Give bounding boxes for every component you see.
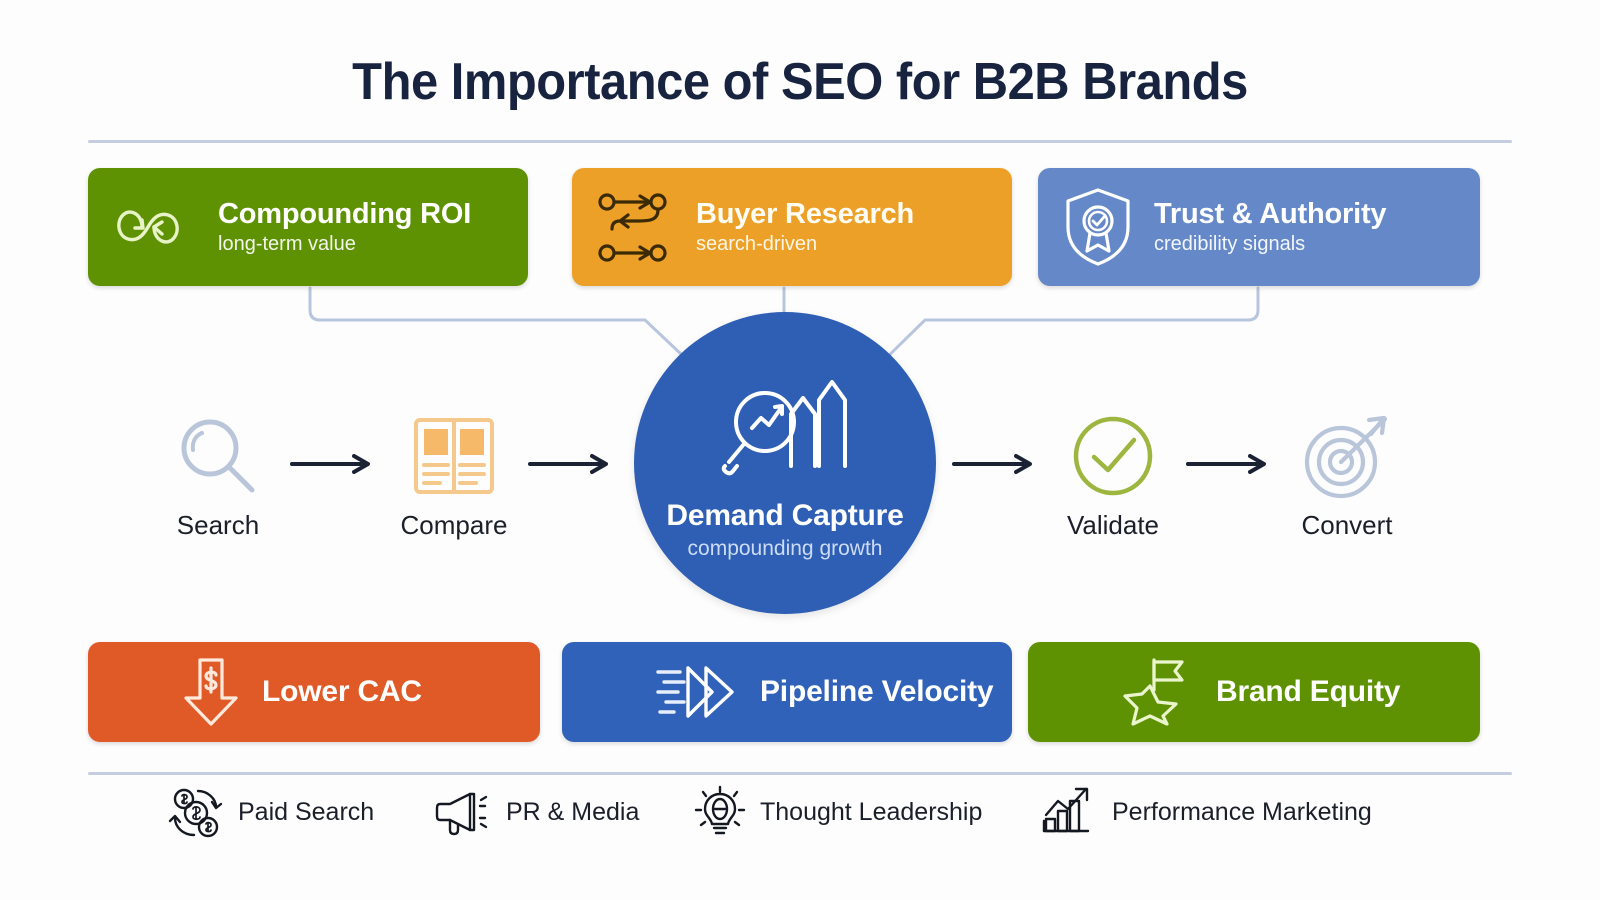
card-title: Trust & Authority xyxy=(1154,199,1386,229)
magnifier-growth-arrows-icon xyxy=(719,370,851,491)
card-buyer-research[interactable]: Buyer Research search-driven xyxy=(572,168,1012,286)
center-subtitle: compounding growth xyxy=(688,537,883,561)
card-subtitle: credibility signals xyxy=(1154,234,1386,255)
coins-cycle-icon xyxy=(168,785,224,839)
footer-item-thought-leadership[interactable]: Thought Leadership xyxy=(694,786,982,838)
flow-arrow-1 xyxy=(290,452,380,476)
flow-step-validate[interactable]: Validate xyxy=(1028,408,1198,541)
growth-bar-chart-icon xyxy=(1040,785,1098,839)
footer-item-performance-marketing[interactable]: Performance Marketing xyxy=(1040,786,1372,838)
shield-badge-icon xyxy=(1062,185,1134,269)
card-trust-authority[interactable]: Trust & Authority credibility signals xyxy=(1038,168,1480,286)
card-compounding-roi[interactable]: Compounding ROI long-term value xyxy=(88,168,528,286)
card-title: Compounding ROI xyxy=(218,199,471,229)
footer-item-pr-media[interactable]: PR & Media xyxy=(434,786,639,838)
card-text-block: Pipeline Velocity xyxy=(760,676,993,708)
branching-flow-nodes-icon xyxy=(596,189,676,265)
center-node-demand-capture[interactable]: Demand Capture compounding growth xyxy=(634,312,936,614)
footer-item-label: Performance Marketing xyxy=(1112,798,1372,827)
card-text-block: Compounding ROI long-term value xyxy=(218,199,471,255)
infinity-loop-icon xyxy=(112,196,198,258)
fast-forward-speed-icon xyxy=(654,660,740,724)
flow-step-convert[interactable]: Convert xyxy=(1262,408,1432,541)
card-brand-equity[interactable]: Brand Equity xyxy=(1028,642,1480,742)
magnifier-icon xyxy=(133,408,303,504)
megaphone-icon xyxy=(434,786,492,838)
flow-step-label: Compare xyxy=(369,510,539,541)
card-title: Lower CAC xyxy=(262,676,422,708)
card-text-block: Lower CAC xyxy=(262,676,422,708)
flow-arrow-2 xyxy=(528,452,618,476)
compare-documents-icon xyxy=(369,408,539,504)
card-text-block: Brand Equity xyxy=(1216,676,1400,708)
flow-step-label: Convert xyxy=(1262,510,1432,541)
star-flag-icon xyxy=(1120,656,1196,728)
divider-bottom xyxy=(88,772,1512,775)
footer-item-paid-search[interactable]: Paid Search xyxy=(168,786,374,838)
card-title: Pipeline Velocity xyxy=(760,676,993,708)
footer-item-label: Thought Leadership xyxy=(760,798,982,827)
card-lower-cac[interactable]: Lower CAC xyxy=(88,642,540,742)
card-pipeline-velocity[interactable]: Pipeline Velocity xyxy=(562,642,1012,742)
flow-step-search[interactable]: Search xyxy=(133,408,303,541)
target-arrow-icon xyxy=(1262,408,1432,504)
down-arrow-dollar-icon xyxy=(180,654,242,730)
flow-step-label: Search xyxy=(133,510,303,541)
lightbulb-icon xyxy=(694,784,746,840)
divider-top xyxy=(88,140,1512,143)
page-title: The Importance of SEO for B2B Brands xyxy=(48,52,1552,112)
footer-item-label: Paid Search xyxy=(238,798,374,827)
card-text-block: Buyer Research search-driven xyxy=(696,199,914,255)
card-text-block: Trust & Authority credibility signals xyxy=(1154,199,1386,255)
card-title: Buyer Research xyxy=(696,199,914,229)
card-subtitle: long-term value xyxy=(218,234,471,255)
center-title: Demand Capture xyxy=(666,499,903,533)
check-circle-icon xyxy=(1028,408,1198,504)
card-subtitle: search-driven xyxy=(696,234,914,255)
card-title: Brand Equity xyxy=(1216,676,1400,708)
flow-step-compare[interactable]: Compare xyxy=(369,408,539,541)
flow-step-label: Validate xyxy=(1028,510,1198,541)
footer-item-label: PR & Media xyxy=(506,798,639,827)
infographic-canvas: The Importance of SEO for B2B Brands Com… xyxy=(0,0,1600,900)
